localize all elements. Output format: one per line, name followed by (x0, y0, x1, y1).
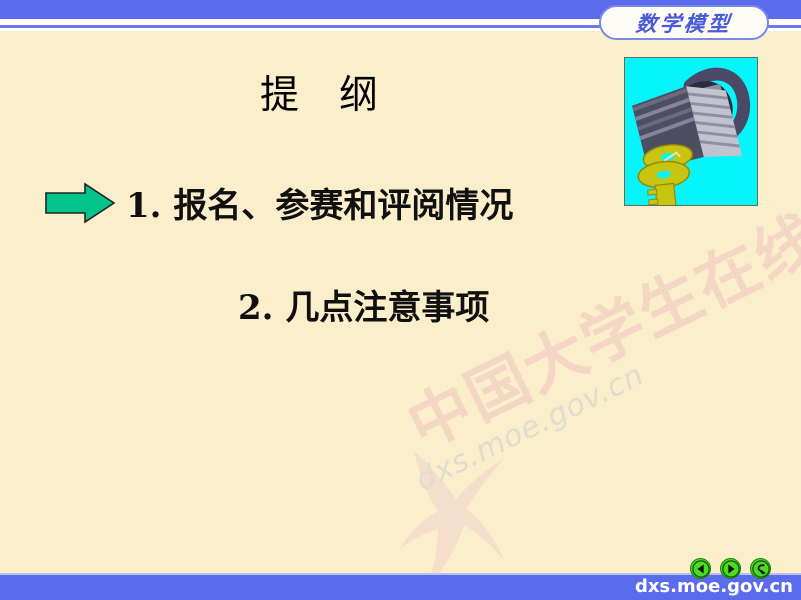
right-arrow-icon (44, 182, 116, 224)
outline-item-1-label: 1. 报名、参赛和评阅情况 (126, 178, 513, 227)
outline-item-2[interactable]: 2. 几点注意事项 (238, 280, 489, 329)
padlock-and-keys-icon (625, 58, 757, 205)
watermark-url: dxs.moe.gov.cn (410, 357, 649, 498)
page-title: 提纲 (0, 64, 640, 120)
next-slide-button[interactable] (720, 558, 741, 579)
page-title-char-1: 提 (260, 73, 301, 118)
header-badge-label: 数学模型 (634, 8, 733, 38)
header-badge: 数学模型 (599, 5, 769, 40)
footer-url: dxs.moe.gov.cn (635, 576, 793, 597)
curved-arrow-icon (752, 560, 770, 578)
left-triangle-icon (692, 560, 710, 578)
padlock-image (624, 57, 758, 206)
previous-slide-button[interactable] (690, 558, 711, 579)
return-button[interactable] (750, 558, 771, 579)
outline-item-2-label: 2. 几点注意事项 (238, 280, 489, 329)
page-title-char-2: 纲 (339, 73, 380, 118)
navigation-buttons[interactable] (690, 558, 771, 579)
outline-item-1[interactable]: 1. 报名、参赛和评阅情况 (44, 178, 513, 227)
right-triangle-icon (722, 560, 740, 578)
presentation-slide: 中国大学生在线 dxs.moe.gov.cn 数学模型 提纲 1. 报名、参赛和… (0, 0, 801, 600)
